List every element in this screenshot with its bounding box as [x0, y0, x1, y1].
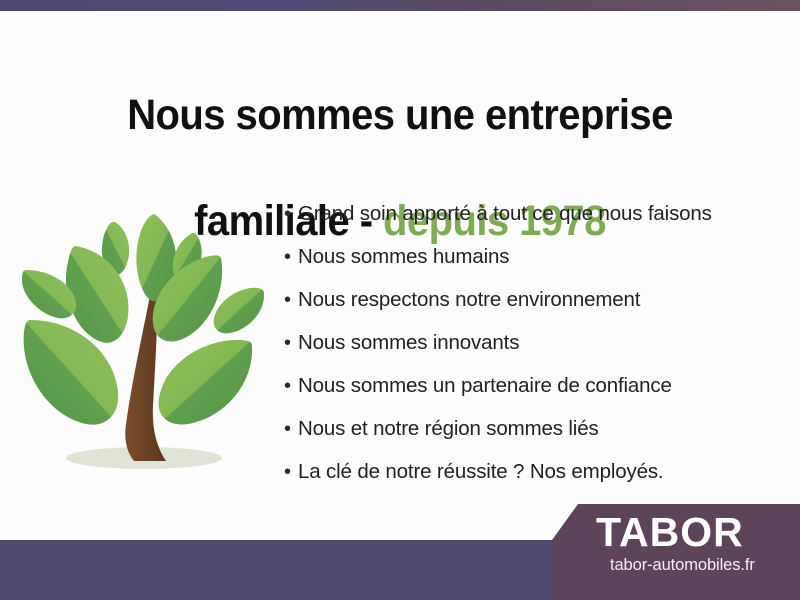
- brand-wordmark: TABOR: [596, 510, 744, 554]
- list-item: • Nous respectons notre environnement: [284, 278, 784, 321]
- bullet-marker-icon: •: [284, 333, 298, 353]
- bullet-marker-icon: •: [284, 376, 298, 396]
- list-item: • Nous et notre région sommes liés: [284, 407, 784, 450]
- list-item-label: Nous respectons notre environnement: [298, 288, 640, 312]
- bullet-marker-icon: •: [284, 247, 298, 267]
- list-item: • La clé de notre réussite ? Nos employé…: [284, 450, 784, 493]
- list-item-label: Nous et notre région sommes liés: [298, 417, 599, 441]
- list-item-label: Grand soin apporté à tout ce que nous fa…: [298, 202, 712, 226]
- bullet-marker-icon: •: [284, 462, 298, 482]
- list-item-label: La clé de notre réussite ? Nos employés.: [298, 460, 663, 484]
- top-accent-bar: [0, 0, 800, 11]
- list-item: • Nous sommes humains: [284, 235, 784, 278]
- list-item: • Nous sommes innovants: [284, 321, 784, 364]
- bullet-marker-icon: •: [284, 419, 298, 439]
- brand-logo-panel: TABOR tabor-automobiles.fr: [552, 504, 800, 600]
- page-title-line1: Nous sommes une entreprise: [127, 91, 673, 139]
- bullet-marker-icon: •: [284, 204, 298, 224]
- brand-website-url: tabor-automobiles.fr: [610, 555, 755, 575]
- tree-leaf: [159, 340, 253, 425]
- list-item-label: Nous sommes un partenaire de confiance: [298, 374, 672, 398]
- list-item-label: Nous sommes humains: [298, 245, 509, 269]
- list-item: • Grand soin apporté à tout ce que nous …: [284, 192, 784, 235]
- list-item-label: Nous sommes innovants: [298, 331, 519, 355]
- tree-illustration: [14, 196, 276, 486]
- benefits-list: • Grand soin apporté à tout ce que nous …: [284, 192, 784, 493]
- tree-leaf: [214, 288, 264, 334]
- list-item: • Nous sommes un partenaire de confiance: [284, 364, 784, 407]
- bullet-marker-icon: •: [284, 290, 298, 310]
- slide-canvas: Nous sommes une entreprise familiale - d…: [0, 0, 800, 600]
